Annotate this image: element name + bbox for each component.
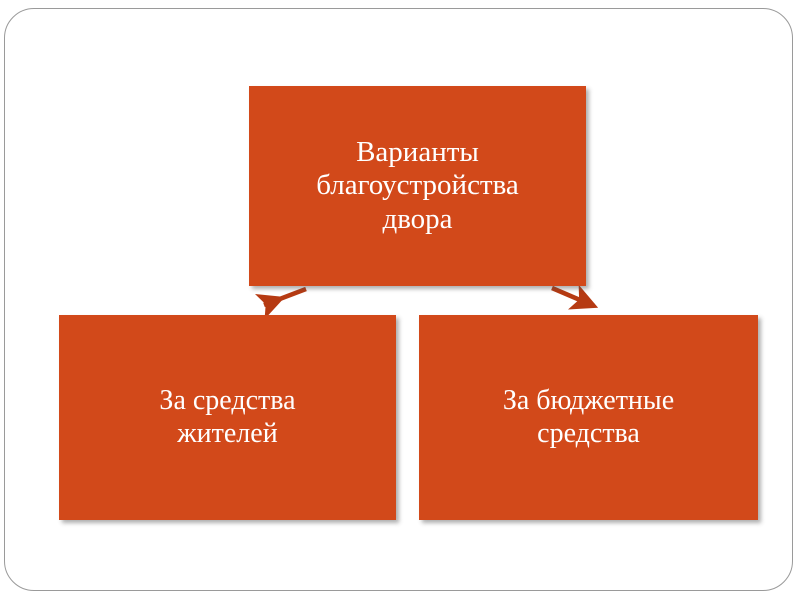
node-residents-funds-label: За средства жителей xyxy=(159,385,295,449)
node-budget-funds[interactable]: За бюджетные средства xyxy=(419,315,758,520)
node-residents-funds[interactable]: За средства жителей xyxy=(59,315,396,520)
arrow-left-connector xyxy=(264,289,306,305)
node-budget-funds-label: За бюджетные средства xyxy=(503,385,674,449)
diagram-canvas: Варианты благоустройства двора За средст… xyxy=(0,0,800,600)
arrow-right-connector xyxy=(552,288,594,306)
node-root-label: Варианты благоустройства двора xyxy=(316,136,519,236)
node-root[interactable]: Варианты благоустройства двора xyxy=(249,86,586,286)
